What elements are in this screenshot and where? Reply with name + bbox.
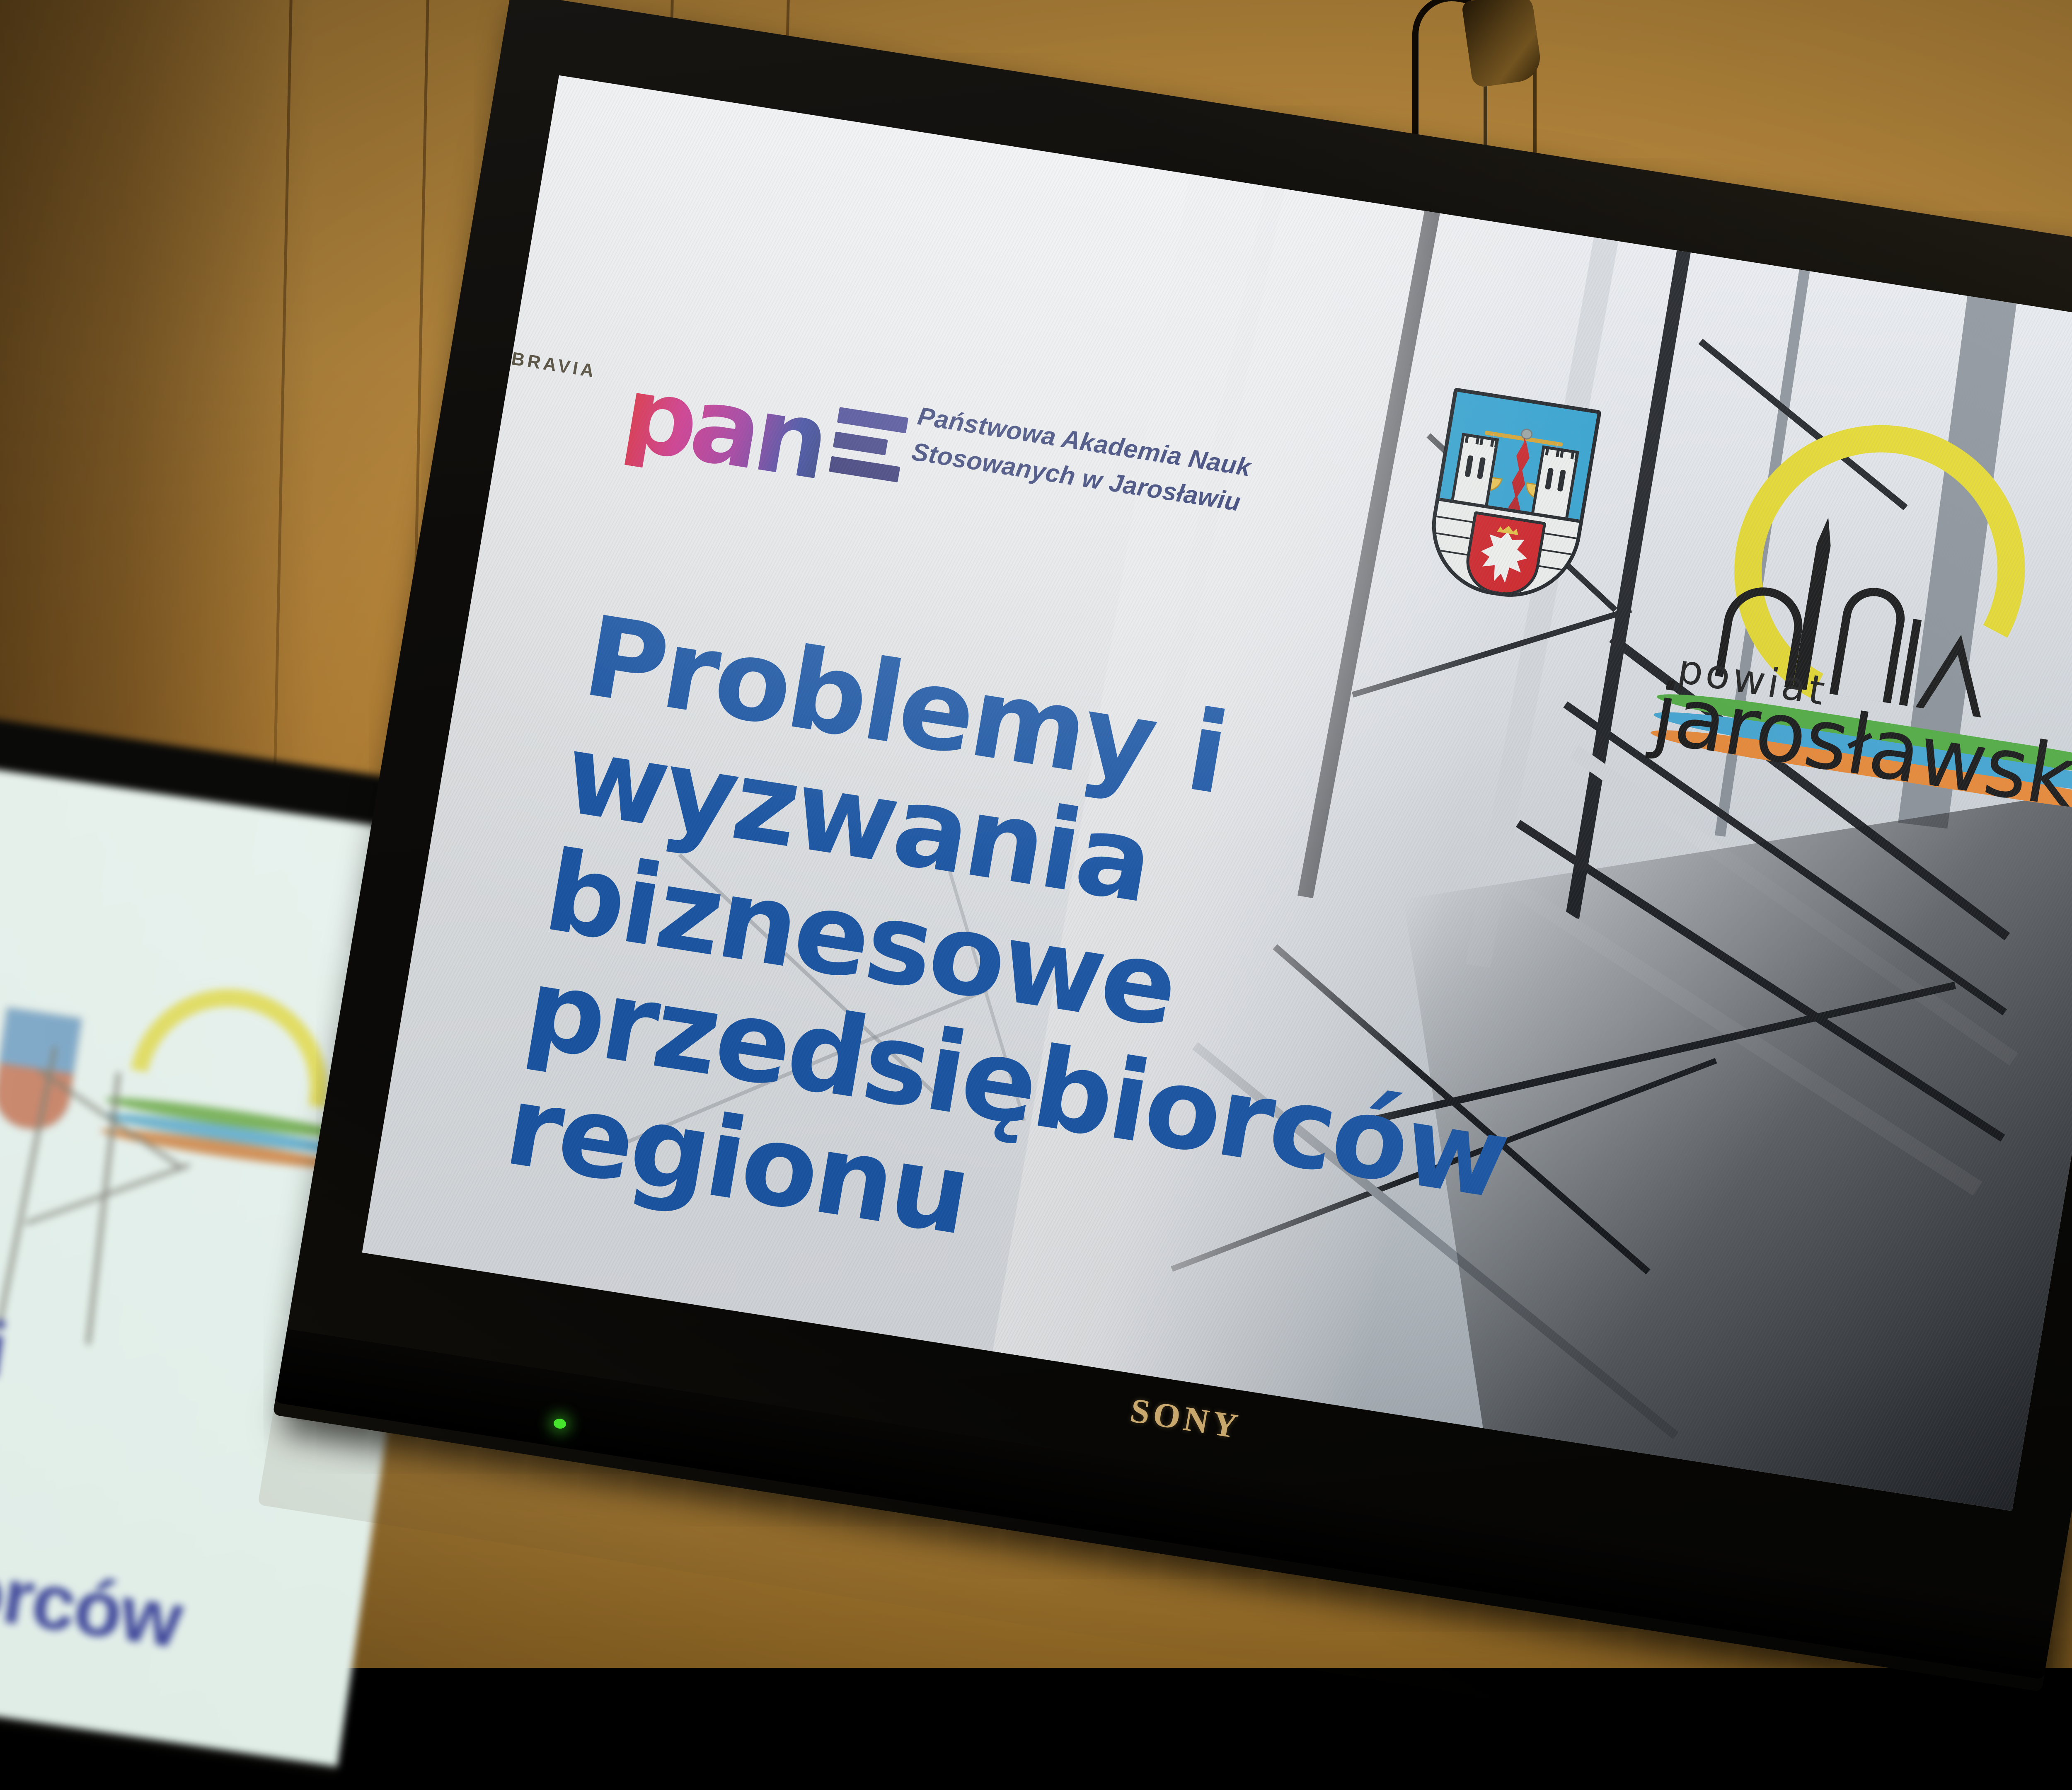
tower-window — [1545, 467, 1554, 489]
pans-bar — [829, 456, 900, 482]
crenel — [1556, 448, 1564, 458]
tower-window — [1464, 455, 1473, 477]
crenel — [1541, 446, 1549, 455]
crenel — [1475, 435, 1484, 445]
tower-window — [1477, 457, 1486, 479]
crenel — [1461, 433, 1469, 443]
powiat-jaroslawski-logo: powiat jarosławski — [1631, 379, 2072, 828]
crenel — [1571, 450, 1579, 460]
crown-icon — [1497, 523, 1520, 535]
crenel — [1490, 437, 1498, 447]
tower-window — [1557, 470, 1566, 492]
pans-wordmark: pan — [616, 361, 831, 494]
skyline-peak — [1915, 630, 1994, 717]
pans-logo: pan Państwowa Akademia Nauk Stosowanych … — [617, 335, 1047, 522]
eagle-icon — [1476, 528, 1531, 588]
pans-bar — [837, 407, 908, 433]
television[interactable]: pan Państwowa Akademia Nauk Stosowanych … — [258, 0, 2072, 1790]
pans-bar — [833, 431, 888, 455]
skyline-dome — [1830, 584, 1910, 704]
pans-logo-bars — [827, 407, 908, 495]
